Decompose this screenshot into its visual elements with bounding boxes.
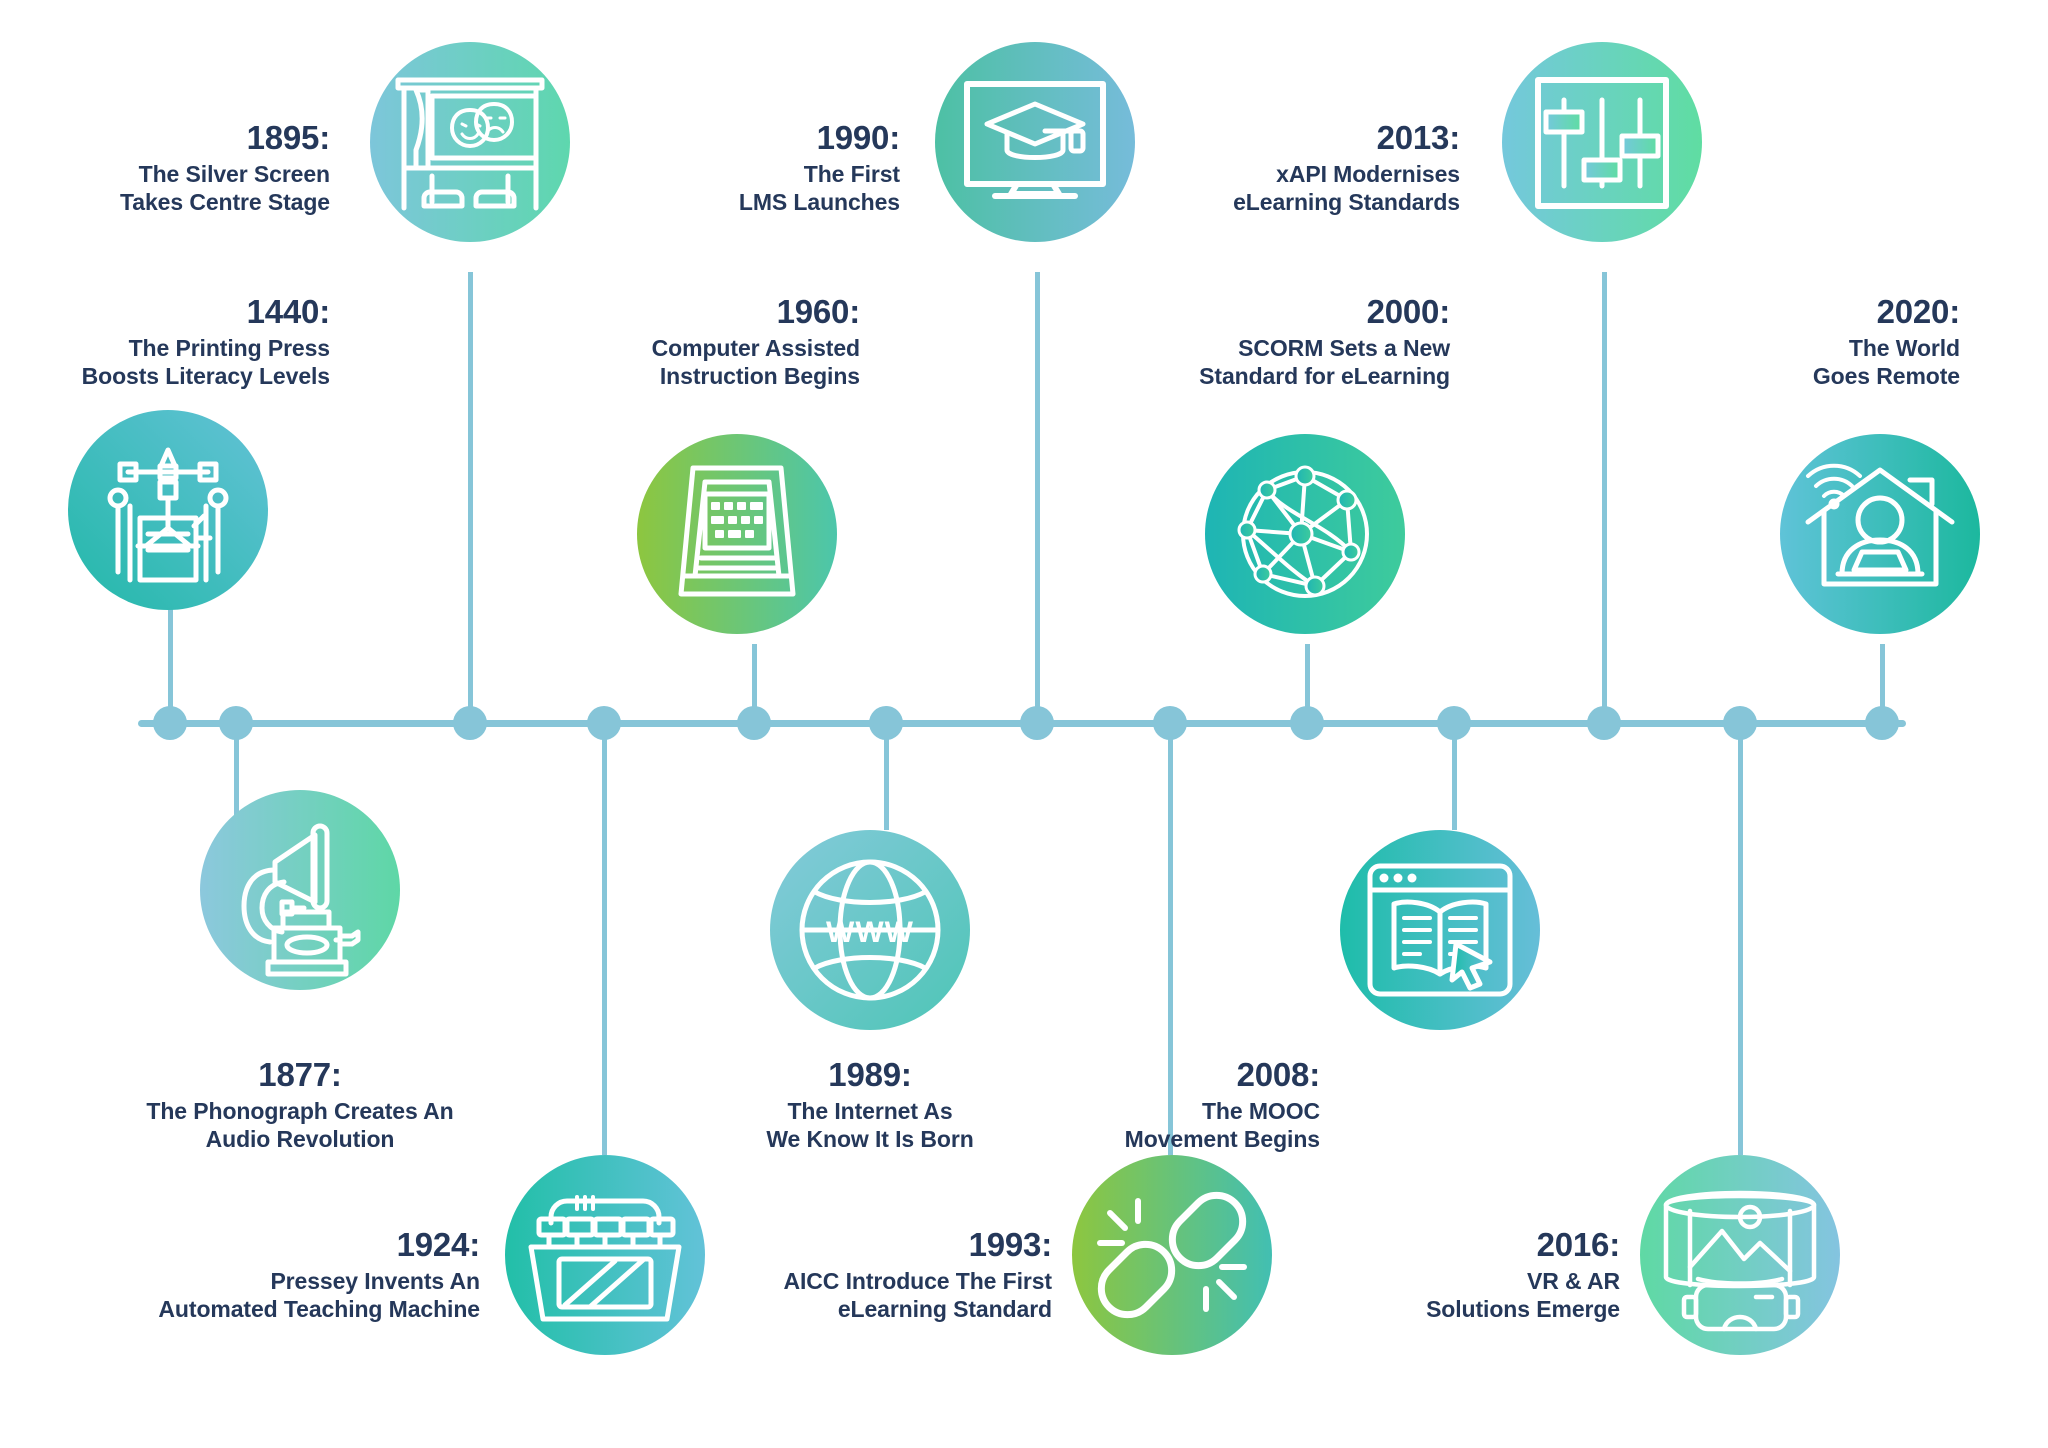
remote-home-icon[interactable]	[1780, 434, 1980, 634]
event-label-2008: 2008: The MOOC Movement Begins	[1010, 1055, 1320, 1153]
sliders-icon[interactable]	[1502, 42, 1702, 242]
event-desc-line1: The Printing Press	[0, 334, 330, 362]
timeline-dot[interactable]	[1020, 706, 1054, 740]
infographic-canvas: 1440: The Printing Press Boosts Literacy…	[0, 0, 2048, 1448]
svg-text:WWW: WWW	[826, 916, 914, 949]
phonograph-icon[interactable]	[200, 790, 400, 990]
event-label-1924: 1924: Pressey Invents An Automated Teach…	[70, 1225, 480, 1323]
vr-headset-icon[interactable]	[1640, 1155, 1840, 1355]
event-desc-line2: Takes Centre Stage	[60, 188, 330, 216]
connector-stem-1924	[602, 720, 607, 1155]
timeline-dot[interactable]	[587, 706, 621, 740]
event-label-1960: 1960: Computer Assisted Instruction Begi…	[330, 292, 860, 390]
event-desc-line1: The Phonograph Creates An	[95, 1097, 505, 1125]
event-year: 2016:	[1210, 1225, 1620, 1265]
event-desc-line2: Solutions Emerge	[1210, 1295, 1620, 1323]
event-desc-line2: Boosts Literacy Levels	[0, 362, 330, 390]
event-desc-line1: xAPI Modernises	[1120, 160, 1460, 188]
event-label-2000: 2000: SCORM Sets a New Standard for eLea…	[900, 292, 1450, 390]
event-year: 1990:	[500, 118, 900, 158]
www-globe-icon[interactable]: WWW	[770, 830, 970, 1030]
event-label-2013: 2013: xAPI Modernises eLearning Standard…	[1120, 118, 1460, 216]
timeline-dot[interactable]	[153, 706, 187, 740]
event-label-1993: 1993: AICC Introduce The First eLearning…	[640, 1225, 1052, 1323]
event-year: 1993:	[640, 1225, 1052, 1265]
event-desc-line2: eLearning Standards	[1120, 188, 1460, 216]
event-year: 2013:	[1120, 118, 1460, 158]
vintage-computer-icon[interactable]	[637, 434, 837, 634]
timeline-dot[interactable]	[219, 706, 253, 740]
event-label-2016: 2016: VR & AR Solutions Emerge	[1210, 1225, 1620, 1323]
timeline-dot[interactable]	[1587, 706, 1621, 740]
timeline-dot[interactable]	[869, 706, 903, 740]
timeline-dot[interactable]	[737, 706, 771, 740]
event-year: 1440:	[0, 292, 330, 332]
event-label-1990: 1990: The First LMS Launches	[500, 118, 900, 216]
event-year: 1960:	[330, 292, 860, 332]
event-year: 1877:	[95, 1055, 505, 1095]
event-desc-line1: Computer Assisted	[330, 334, 860, 362]
event-desc-line1: The World	[1500, 334, 1960, 362]
event-desc-line2: Standard for eLearning	[900, 362, 1450, 390]
timeline-dot[interactable]	[1437, 706, 1471, 740]
event-desc-line2: Automated Teaching Machine	[70, 1295, 480, 1323]
event-desc-line2: Audio Revolution	[95, 1125, 505, 1153]
lms-monitor-icon[interactable]	[935, 42, 1135, 242]
event-label-1895: 1895: The Silver Screen Takes Centre Sta…	[60, 118, 330, 216]
event-label-1440: 1440: The Printing Press Boosts Literacy…	[0, 292, 330, 390]
timeline-dot[interactable]	[1865, 706, 1899, 740]
event-label-1877: 1877: The Phonograph Creates An Audio Re…	[95, 1055, 505, 1153]
event-desc-line1: The First	[500, 160, 900, 188]
event-year: 2008:	[1010, 1055, 1320, 1095]
printing-press-icon[interactable]	[68, 410, 268, 610]
event-desc-line2: Instruction Begins	[330, 362, 860, 390]
event-year: 1895:	[60, 118, 330, 158]
event-desc-line1: SCORM Sets a New	[900, 334, 1450, 362]
event-desc-line1: Pressey Invents An	[70, 1267, 480, 1295]
event-year: 1924:	[70, 1225, 480, 1265]
event-desc-line1: AICC Introduce The First	[640, 1267, 1052, 1295]
event-desc-line2: Goes Remote	[1500, 362, 1960, 390]
connector-stem-2016	[1738, 720, 1743, 1155]
timeline-dot[interactable]	[1153, 706, 1187, 740]
event-desc-line2: eLearning Standard	[640, 1295, 1052, 1323]
event-year: 2000:	[900, 292, 1450, 332]
event-desc-line2: Movement Begins	[1010, 1125, 1320, 1153]
timeline-dot[interactable]	[1723, 706, 1757, 740]
event-year: 2020:	[1500, 292, 1960, 332]
browser-book-icon[interactable]	[1340, 830, 1540, 1030]
event-desc-line1: The MOOC	[1010, 1097, 1320, 1125]
timeline-dot[interactable]	[1290, 706, 1324, 740]
event-desc-line2: LMS Launches	[500, 188, 900, 216]
timeline-dot[interactable]	[453, 706, 487, 740]
event-desc-line1: The Silver Screen	[60, 160, 330, 188]
network-nodes-icon[interactable]	[1205, 434, 1405, 634]
event-desc-line1: VR & AR	[1210, 1267, 1620, 1295]
event-label-2020: 2020: The World Goes Remote	[1500, 292, 1960, 390]
